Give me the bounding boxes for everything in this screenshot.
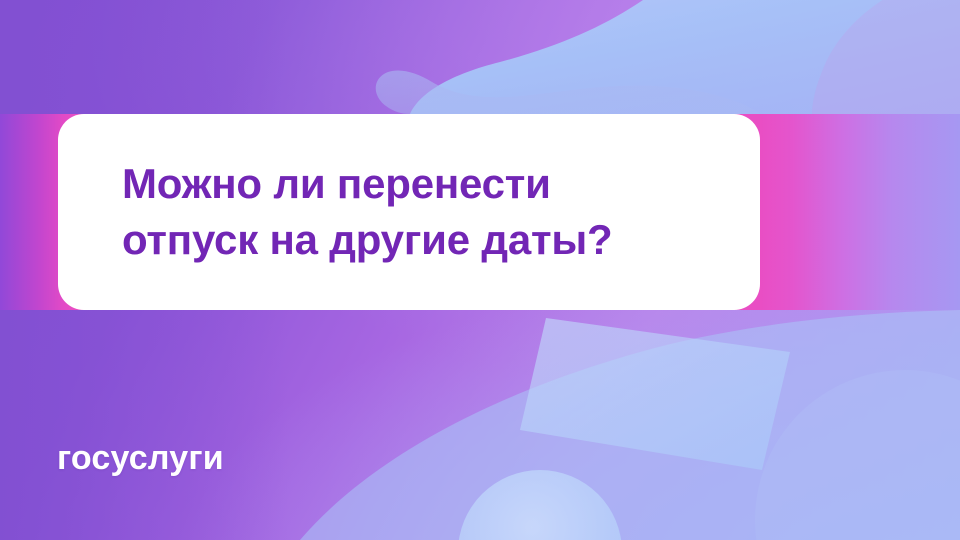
gosuslugi-question-banner: Можно ли перенести отпуск на другие даты… (0, 0, 960, 540)
blue-blob-top-right-group (376, 0, 960, 114)
gosuslugi-logo: госуслуги (57, 438, 224, 478)
headline-line-2: отпуск на другие даты? (122, 212, 760, 268)
headline-line-1: Можно ли перенести (122, 156, 760, 212)
bottom-decor-group (300, 310, 960, 540)
question-card: Можно ли перенести отпуск на другие даты… (58, 114, 760, 310)
